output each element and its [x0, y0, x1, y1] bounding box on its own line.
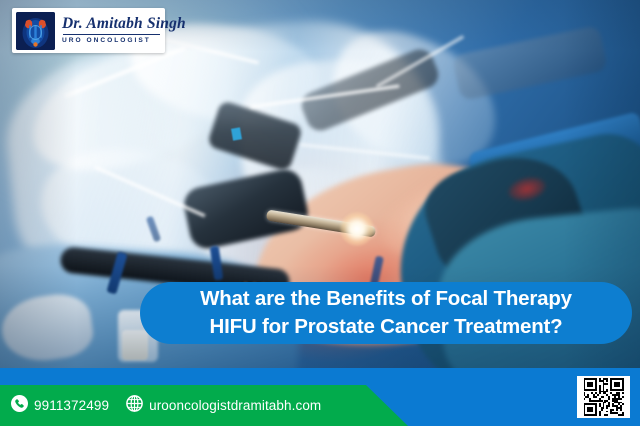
- qr-code-icon[interactable]: [577, 376, 630, 418]
- doctor-specialty: URO ONCOLOGIST: [62, 38, 186, 45]
- phone-icon: [11, 395, 28, 417]
- website-url: urooncologistdramitabh.com: [149, 398, 321, 413]
- headline-line-2: HIFU for Prostate Cancer Treatment?: [210, 313, 563, 341]
- urology-anatomy-icon: [16, 12, 55, 50]
- doctor-name: Dr. Amitabh Singh: [62, 16, 186, 32]
- headline-pill: What are the Benefits of Focal Therapy H…: [140, 282, 632, 344]
- footer-green-bar: 9911372499 urooncologistdramitabh.com: [0, 385, 408, 426]
- phone-number: 9911372499: [34, 398, 109, 413]
- logo-text-block: Dr. Amitabh Singh URO ONCOLOGIST: [62, 16, 186, 44]
- logo-divider: [63, 34, 160, 35]
- headline-line-1: What are the Benefits of Focal Therapy: [200, 285, 572, 313]
- contact-website[interactable]: urooncologistdramitabh.com: [126, 395, 321, 417]
- globe-icon: [126, 395, 143, 417]
- clinic-logo[interactable]: Dr. Amitabh Singh URO ONCOLOGIST: [12, 8, 165, 53]
- qr-matrix: [584, 378, 624, 416]
- promo-banner: Dr. Amitabh Singh URO ONCOLOGIST What ar…: [0, 0, 640, 426]
- contact-phone[interactable]: 9911372499: [11, 395, 109, 417]
